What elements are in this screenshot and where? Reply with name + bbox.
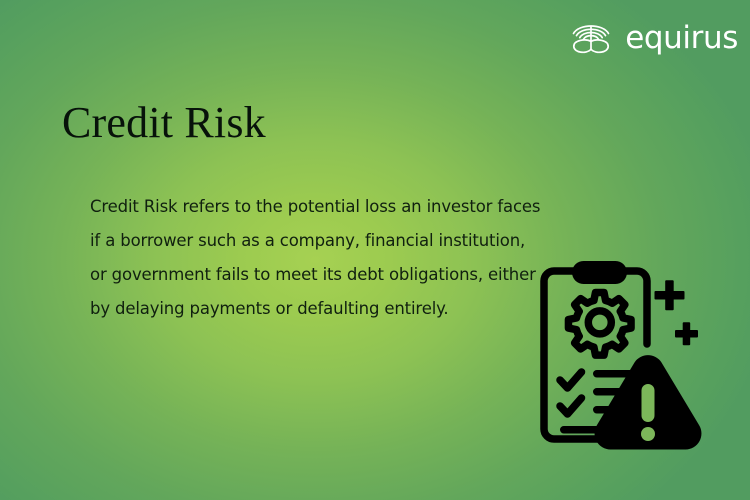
body-paragraph: Credit Risk refers to the potential loss… [90,190,542,327]
credit-risk-illustration [536,258,706,453]
plus-sign-large-icon [655,280,685,310]
equirus-logo-mark [567,18,615,58]
plus-sign-small-icon [675,322,698,345]
equirus-wordmark: equirus [625,23,738,54]
gear-icon [568,293,631,356]
clipboard-clip-icon [572,261,627,284]
warning-triangle-icon [595,355,702,449]
page-title: Credit Risk [62,100,266,146]
slide-canvas: equirus Credit Risk Credit Risk refers t… [0,0,750,500]
brand-lockup: equirus [567,18,738,58]
